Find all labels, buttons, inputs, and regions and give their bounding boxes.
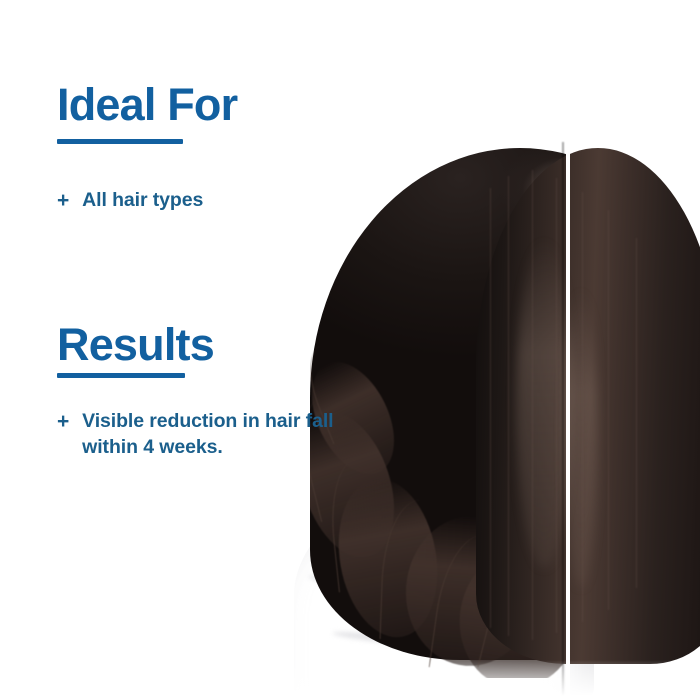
plus-icon: + [57,409,69,435]
ideal-for-heading-rest: For [156,79,238,130]
ideal-for-heading-accent: Ideal [57,79,156,130]
bullet-visible-reduction: + Visible reduction in hair fall within … [57,409,347,461]
ideal-for-heading: Ideal For [57,82,237,127]
split-divider-line [566,142,570,700]
ideal-for-underline [57,139,183,144]
results-underline [57,373,185,378]
bullet-all-hair-types-label: All hair types [82,188,203,214]
hair-after-half [594,148,700,678]
hair-strand-5 [582,192,583,622]
results-heading-accent: Results [57,319,214,370]
results-heading: Results [57,322,214,367]
plus-icon: + [57,188,69,214]
split-divider-shadow [562,142,564,700]
bullet-visible-reduction-label: Visible reduction in hair fall within 4 … [82,409,347,461]
hair-mass [310,148,700,678]
hair-strand-6 [608,210,609,610]
hair-strand-1 [490,188,491,628]
hair-strand-2 [508,176,509,636]
promo-canvas: Ideal For + All hair types Results + Vis… [0,0,700,700]
bullet-all-hair-types: + All hair types [57,188,203,214]
bottom-white-fade [288,660,700,700]
hair-strand-3 [532,170,533,640]
copy-column: Ideal For + All hair types Results + Vis… [0,0,330,700]
hair-strand-4 [556,178,557,633]
before-after-hair-photo [288,0,700,700]
hair-strand-7 [636,238,637,588]
